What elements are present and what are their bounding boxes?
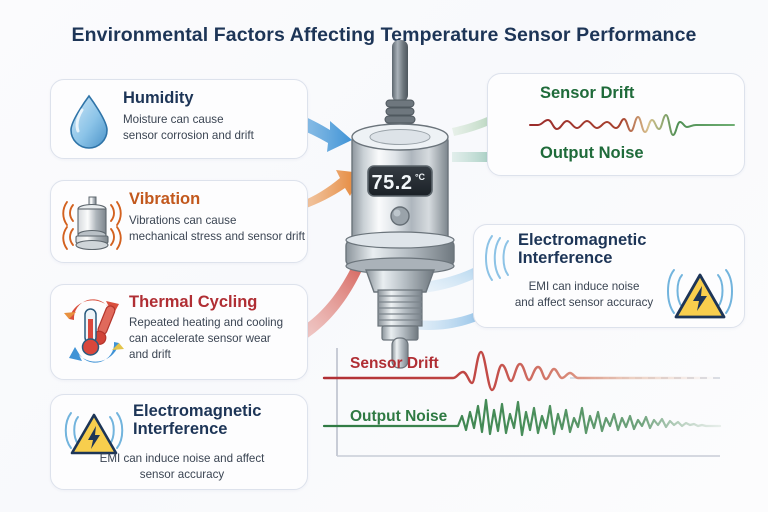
chart-label-output-noise: Output Noise [350,408,448,425]
label-sensor-drift: Sensor Drift [540,84,634,103]
emi-waves-icon [480,233,514,283]
card-humidity[interactable]: Humidity Moisture can cause sensor corro… [50,79,308,159]
card-title-line2: Interference [133,420,305,438]
vibration-sensor-icon [61,191,123,255]
card-title-line1: Electromagnetic [133,402,305,420]
card-desc-line: and drift [129,347,305,363]
card-desc-line: and affect sensor accuracy [494,295,674,311]
card-title-line1: Electromagnetic [518,231,703,249]
card-desc-line: sensor accuracy [67,467,297,483]
card-desc-line: EMI can induce noise and affect [67,451,297,467]
sensor-display-value: 75.2 [372,172,413,194]
card-desc-line: mechanical stress and sensor drift [129,229,305,245]
card-thermal-cycling[interactable]: Thermal Cycling Repeated heating and coo… [50,284,308,380]
thermometer-cycle-icon [61,293,127,369]
temperature-sensor[interactable]: 75.2 °C [330,40,470,370]
emi-warning-triangle-icon [660,261,740,329]
card-sensor-outputs[interactable]: Sensor Drift Output Noise [487,73,745,176]
water-droplet-icon [65,90,113,150]
card-vibration[interactable]: Vibration Vibrations can cause mechanica… [50,180,308,263]
sensor-display-unit: °C [415,172,426,182]
card-emi-left[interactable]: Electromagnetic Interference EMI can ind… [50,394,308,490]
label-output-noise: Output Noise [540,144,644,163]
card-title: Thermal Cycling [129,293,305,311]
card-emi-right[interactable]: Electromagnetic Interference EMI can ind… [473,224,745,328]
infographic-canvas: Environmental Factors Affecting Temperat… [0,0,768,512]
card-title: Vibration [129,190,305,208]
card-desc-line: sensor corrosion and drift [123,128,301,144]
drift-to-noise-waveform [528,112,736,138]
card-desc-line: EMI can induce noise [494,279,674,295]
card-desc-line: Moisture can cause [123,112,301,128]
output-waveform-chart: Sensor Drift Output Noise [320,338,760,496]
card-title: Humidity [123,89,301,107]
chart-label-sensor-drift: Sensor Drift [350,355,439,372]
card-desc-line: Vibrations can cause [129,213,305,229]
card-desc-line: Repeated heating and cooling [129,315,305,331]
card-desc-line: can accelerate sensor wear [129,331,305,347]
